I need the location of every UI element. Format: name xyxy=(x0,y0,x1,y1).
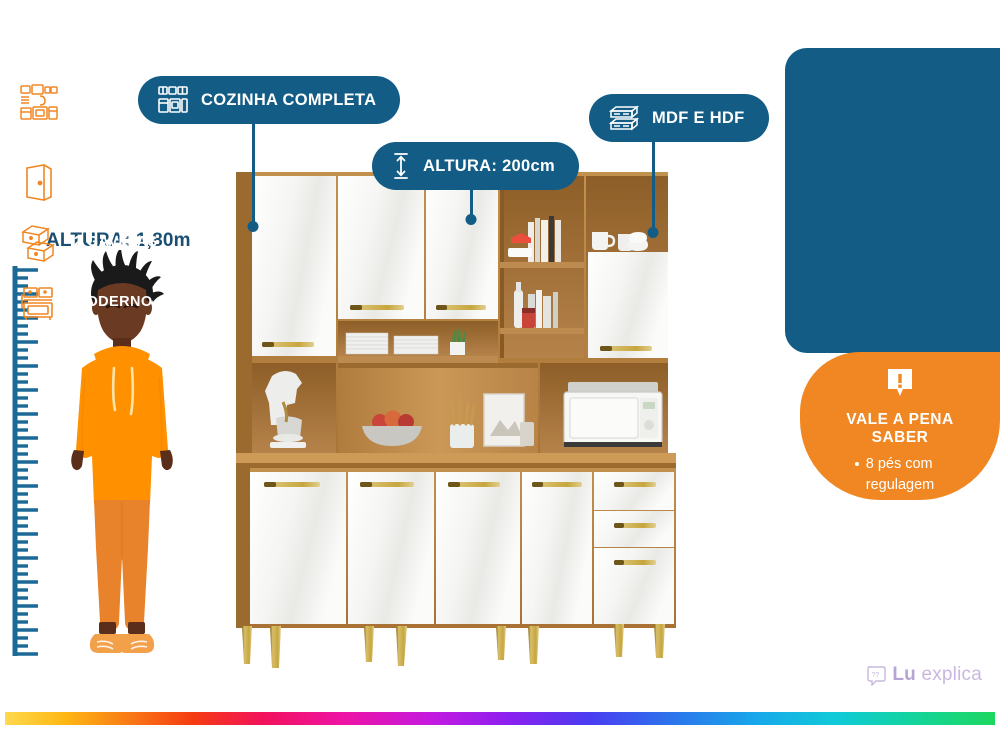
badge-mdf-hdf[interactable]: MDF E HDF xyxy=(589,94,769,142)
feature-label: 2 GAVETAS xyxy=(74,234,158,252)
microwave xyxy=(564,382,662,447)
kitchen-cabinet-icon xyxy=(156,83,190,117)
vertical-arrow-icon xyxy=(390,150,412,182)
connector-mdf xyxy=(652,140,655,233)
highlight-bullet-line1: 8 pés com xyxy=(866,454,935,476)
highlight-bullet: 8 pés com regulagem xyxy=(866,454,935,498)
lu-bubble-icon: ?? xyxy=(865,665,886,686)
exclamation-bubble-icon xyxy=(883,366,917,405)
badge-altura-200[interactable]: ALTURA: 200cm xyxy=(372,142,579,190)
modern-cabinet-icon xyxy=(18,282,60,324)
badge-cozinha-completa[interactable]: COZINHA COMPLETA xyxy=(138,76,400,124)
badge-label: COZINHA COMPLETA xyxy=(201,91,376,110)
highlight-title-line2: SABER xyxy=(800,429,1000,447)
lu-explica-logo: ?? Lu explica xyxy=(865,664,982,686)
logo-text: Lu explica xyxy=(892,664,982,686)
features-panel xyxy=(785,48,1000,353)
feature-gavetas: 2 GAVETAS xyxy=(18,222,215,264)
badge-label: MDF E HDF xyxy=(652,109,745,128)
svg-text:??: ?? xyxy=(872,672,880,679)
connector-cozinha xyxy=(252,124,255,227)
highlight-card: VALE A PENA SABER 8 pés com regulagem xyxy=(800,352,1000,500)
kitchen-cabinet-unit xyxy=(228,170,698,670)
shelf-items-mugs xyxy=(592,232,648,251)
height-ruler xyxy=(12,266,42,656)
feature-portas: 9 PORTAS xyxy=(18,162,215,204)
highlight-bullet-line2: regulagem xyxy=(866,475,935,497)
feature-label: 9 PORTAS xyxy=(74,174,149,192)
logo-brand-light: explica xyxy=(921,664,982,685)
feature-moderno: MODERNO xyxy=(18,282,215,324)
rainbow-gradient-bar xyxy=(5,712,995,725)
infographic-stage: COZINHA COMPLETA ALTURA: 200cm xyxy=(0,0,1000,750)
board-layers-icon xyxy=(607,103,641,133)
badge-label: ALTURA: 200cm xyxy=(423,157,555,176)
microwave-counter-icon xyxy=(18,82,60,124)
feature-label: MODERNO xyxy=(74,294,153,312)
drawers-icon xyxy=(18,222,60,264)
door-icon xyxy=(18,162,60,204)
logo-brand-bold: Lu xyxy=(892,664,916,685)
highlight-title-line1: VALE A PENA xyxy=(800,411,1000,429)
cabinet-legs xyxy=(242,624,665,668)
